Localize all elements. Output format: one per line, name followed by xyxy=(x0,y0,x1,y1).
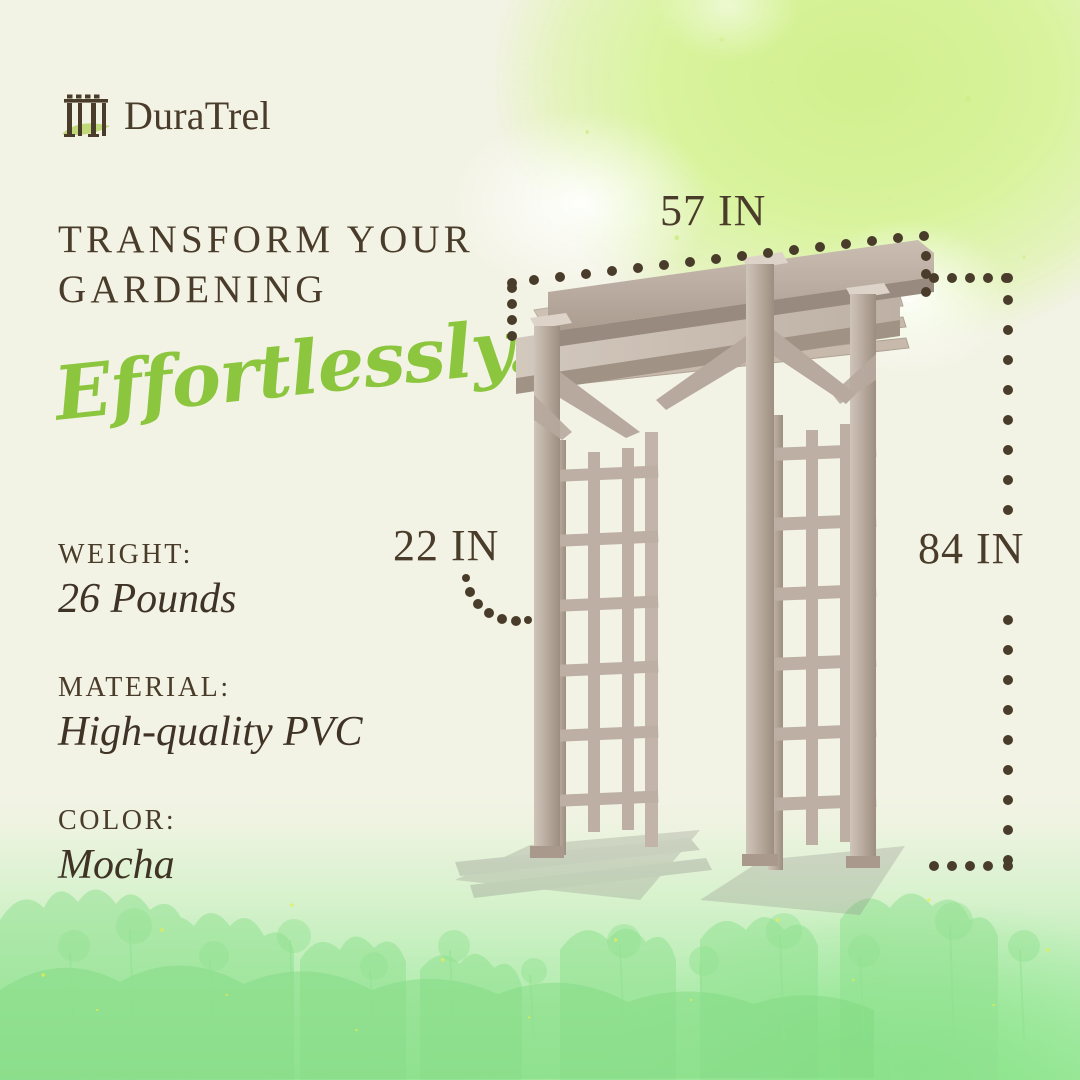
corner-braces xyxy=(534,330,876,440)
dim-line-57 xyxy=(507,231,931,341)
dimension-label-width: 57 IN xyxy=(660,185,766,236)
headline-script: Effortlessly. xyxy=(51,302,534,437)
canopy-slats xyxy=(534,274,909,385)
headline: TRANSFORM YOUR GARDENING xyxy=(58,215,488,315)
spec-item-material: MATERIAL: High-quality PVC xyxy=(58,673,478,756)
post-front-left xyxy=(534,326,560,856)
dimension-label-depth: 22 IN xyxy=(393,520,499,571)
spec-value: 26 Pounds xyxy=(58,575,478,623)
headline-line-1: TRANSFORM YOUR xyxy=(58,215,488,265)
watercolor-spray-specks xyxy=(520,0,1080,330)
spec-label: COLOR: xyxy=(58,806,478,837)
spec-label: MATERIAL: xyxy=(58,673,478,704)
post-caps xyxy=(530,252,890,329)
post-center xyxy=(746,264,774,864)
spec-value: High-quality PVC xyxy=(58,708,478,756)
spec-list: WEIGHT: 26 Pounds MATERIAL: High-quality… xyxy=(58,540,478,939)
watercolor-wash-bottom-right xyxy=(520,820,1080,1080)
dimension-label-height: 84 IN xyxy=(918,523,1024,574)
pergola-icon xyxy=(58,88,114,144)
canopy-front-beams xyxy=(516,240,934,394)
brand-name: DuraTrel xyxy=(124,96,271,136)
spec-item-color: COLOR: Mocha xyxy=(58,806,478,889)
post-front-right xyxy=(850,294,876,866)
headline-line-2: GARDENING xyxy=(58,265,488,315)
post-rear-left xyxy=(540,330,557,850)
post-rear-right xyxy=(852,300,869,860)
trellis-panel-left xyxy=(552,432,658,855)
brand-logo: DuraTrel xyxy=(58,88,271,144)
post-feet xyxy=(530,846,880,868)
trellis-panel-right xyxy=(768,400,876,870)
ground-shadow xyxy=(455,830,905,915)
spec-value: Mocha xyxy=(58,841,478,889)
